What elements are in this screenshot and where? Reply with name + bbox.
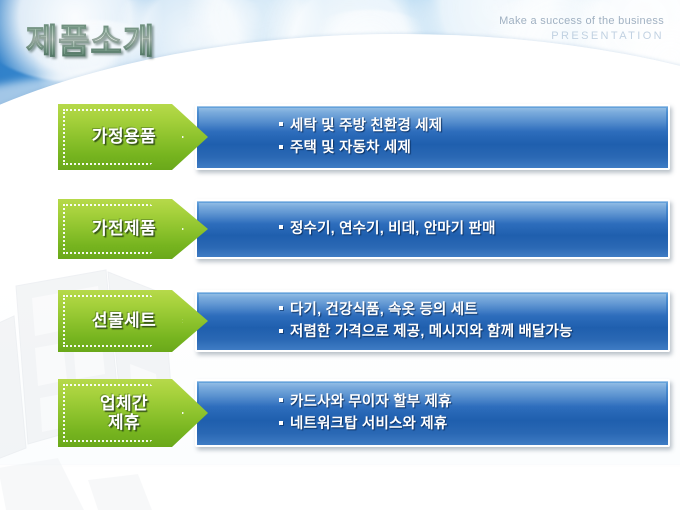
row-category-label: 업체간 제휴	[100, 394, 148, 432]
bullet-square-icon	[279, 421, 283, 425]
row-detail-bar: 세탁 및 주방 친환경 세제 주택 및 자동차 세제	[195, 104, 670, 170]
bullet-list: 정수기, 연수기, 비데, 안마기 판매	[197, 201, 668, 257]
list-item: 다기, 건강식품, 속옷 등의 세트	[279, 299, 668, 321]
bullet-list: 다기, 건강식품, 속옷 등의 세트 저렴한 가격으로 제공, 메시지와 함께 …	[197, 292, 668, 350]
row-category-arrow[interactable]: 가전제품	[58, 199, 208, 259]
list-item: 네트워크탑 서비스와 제휴	[279, 413, 668, 435]
list-item: 세탁 및 주방 친환경 세제	[279, 115, 668, 137]
row-category-label: 가정용품	[92, 127, 156, 146]
tagline-line-2: PRESENTATION	[499, 29, 664, 44]
bullet-list: 세탁 및 주방 친환경 세제 주택 및 자동차 세제	[197, 106, 668, 168]
bullet-square-icon	[279, 306, 283, 310]
bullet-square-icon	[279, 122, 283, 126]
tagline-line-1: Make a success of the business	[499, 14, 664, 29]
list-item-label: 네트워크탑 서비스와 제휴	[290, 416, 447, 432]
row-category-arrow[interactable]: 업체간 제휴	[58, 379, 208, 447]
row-detail-bar: 정수기, 연수기, 비데, 안마기 판매	[195, 199, 670, 259]
list-item: 주택 및 자동차 세제	[279, 137, 668, 159]
bullet-list: 카드사와 무이자 할부 제휴 네트워크탑 서비스와 제휴	[197, 381, 668, 445]
row-detail-bar: 다기, 건강식품, 속옷 등의 세트 저렴한 가격으로 제공, 메시지와 함께 …	[195, 290, 670, 352]
row-category-label: 선물세트	[92, 311, 156, 330]
bullet-square-icon	[279, 398, 283, 402]
row-category-label: 가전제품	[92, 219, 156, 238]
list-item-label: 세탁 및 주방 친환경 세제	[290, 118, 442, 134]
list-item-label: 주택 및 자동차 세제	[290, 140, 411, 156]
bullet-square-icon	[279, 329, 283, 333]
row-category-arrow[interactable]: 선물세트	[58, 290, 208, 352]
header-tagline: Make a success of the business PRESENTAT…	[499, 14, 664, 44]
content-rows: 세탁 및 주방 친환경 세제 주택 및 자동차 세제 가정용품 정수기, 연수기…	[0, 0, 680, 510]
list-item-label: 카드사와 무이자 할부 제휴	[290, 394, 452, 410]
list-item-label: 저렴한 가격으로 제공, 메시지와 함께 배달가능	[290, 324, 573, 340]
list-item-label: 정수기, 연수기, 비데, 안마기 판매	[290, 221, 496, 237]
list-item: 저렴한 가격으로 제공, 메시지와 함께 배달가능	[279, 321, 668, 343]
row-detail-bar: 카드사와 무이자 할부 제휴 네트워크탑 서비스와 제휴	[195, 379, 670, 447]
bullet-square-icon	[279, 225, 283, 229]
presentation-slide: 제품소개 Make a success of the business PRES…	[0, 0, 680, 510]
list-item: 카드사와 무이자 할부 제휴	[279, 391, 668, 413]
row-category-arrow[interactable]: 가정용품	[58, 104, 208, 170]
list-item-label: 다기, 건강식품, 속옷 등의 세트	[290, 302, 478, 318]
bullet-square-icon	[279, 145, 283, 149]
list-item: 정수기, 연수기, 비데, 안마기 판매	[279, 218, 668, 240]
page-title: 제품소개	[26, 14, 155, 63]
